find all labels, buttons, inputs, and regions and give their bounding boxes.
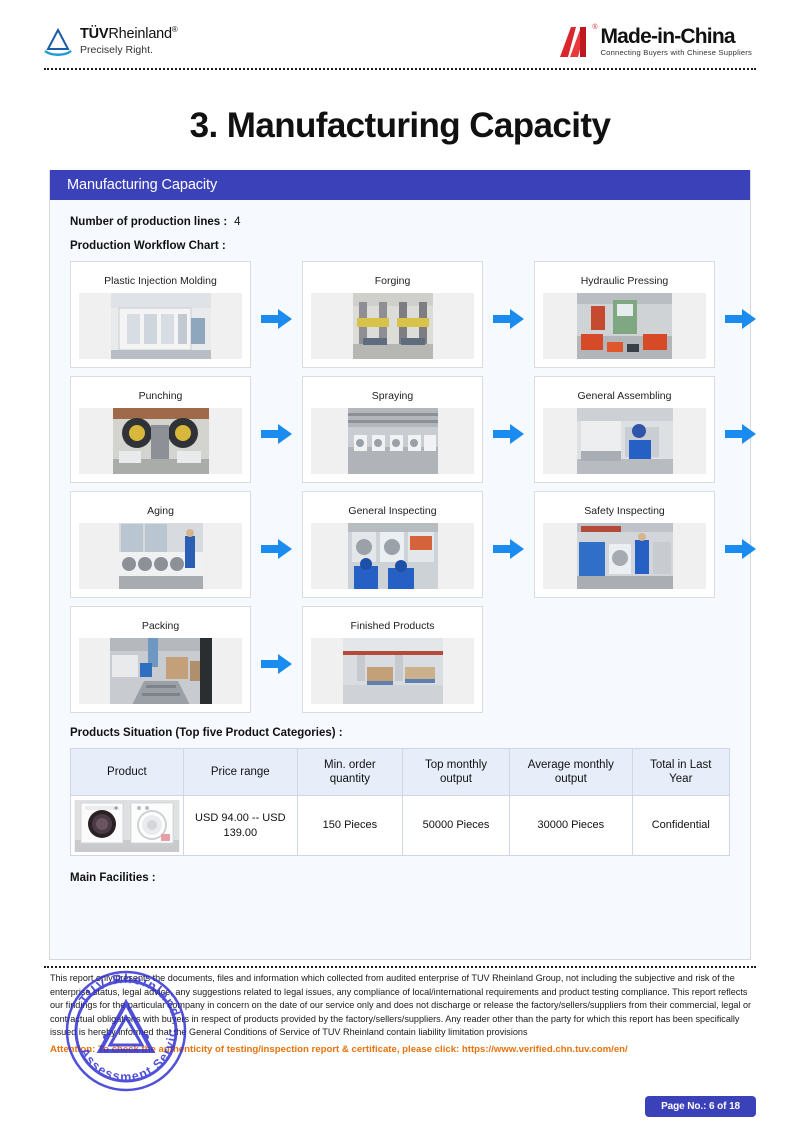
- panel-header: Manufacturing Capacity: [50, 170, 750, 200]
- workflow-arrow: [251, 307, 302, 331]
- general-inspecting-photo: [311, 523, 474, 589]
- right-arrow-icon: [493, 307, 525, 331]
- mic-logo-name: Made-in-China: [600, 26, 752, 47]
- workflow-arrow: [715, 422, 766, 446]
- workflow-arrow: [251, 537, 302, 561]
- workflow-chart-label: Production Workflow Chart :: [70, 240, 730, 252]
- table-row: USD 94.00 -- USD 139.00 150 Pieces 50000…: [71, 796, 730, 856]
- made-in-china-logo: ® Made-in-China Connecting Buyers with C…: [558, 26, 752, 58]
- workflow-arrow: [251, 652, 302, 676]
- workflow-step-label: Finished Products: [350, 615, 434, 638]
- cell-total-last-year: Confidential: [632, 796, 729, 856]
- hydraulic-pressing-photo: [543, 293, 706, 359]
- punching-photo: [79, 408, 242, 474]
- workflow-row: Plastic Injection Molding: [70, 261, 730, 368]
- workflow-step-punching: Punching: [70, 376, 251, 483]
- column-header-price-range: Price range: [183, 749, 297, 796]
- right-arrow-icon: [493, 537, 525, 561]
- workflow-step-aging: Aging: [70, 491, 251, 598]
- workflow-arrow: [715, 307, 766, 331]
- products-table: Product Price range Min. order quantity …: [70, 748, 730, 856]
- tuv-rheinland-logo: TÜVRheinland® Precisely Right.: [44, 26, 178, 57]
- workflow-step-label: General Inspecting: [348, 500, 436, 523]
- right-arrow-icon: [493, 422, 525, 446]
- page-header: TÜVRheinland® Precisely Right. ® Made-in…: [0, 0, 800, 72]
- workflow-step-plastic-injection-molding: Plastic Injection Molding: [70, 261, 251, 368]
- washing-machine-photo: [74, 800, 180, 852]
- main-facilities-label: Main Facilities :: [70, 872, 730, 884]
- workflow-step-hydraulic-pressing: Hydraulic Pressing: [534, 261, 715, 368]
- workflow-step-label: Spraying: [372, 385, 413, 408]
- workflow-step-label: General Assembling: [578, 385, 672, 408]
- workflow-step-forging: Forging: [302, 261, 483, 368]
- workflow-step-label: Aging: [147, 500, 174, 523]
- workflow-row: Aging: [70, 491, 730, 598]
- cell-product-image: [71, 796, 184, 856]
- attention-text: Attention: To check the authenticity of …: [50, 1044, 459, 1055]
- workflow-step-spraying: Spraying: [302, 376, 483, 483]
- workflow-step-packing: Packing: [70, 606, 251, 713]
- spraying-photo: [311, 408, 474, 474]
- workflow-step-label: Punching: [139, 385, 183, 408]
- production-lines-value: 4: [234, 216, 240, 228]
- cell-min-order-quantity: 150 Pieces: [297, 796, 402, 856]
- workflow-step-safety-inspecting: Safety Inspecting: [534, 491, 715, 598]
- footer-divider: [44, 966, 756, 968]
- production-lines-field: Number of production lines :4: [70, 216, 730, 228]
- workflow-arrow: [483, 422, 534, 446]
- mic-registered-mark: ®: [592, 24, 597, 31]
- column-header-top-monthly-output: Top monthly output: [402, 749, 509, 796]
- panel-body: Number of production lines :4 Production…: [50, 200, 750, 884]
- plastic-injection-molding-photo: [79, 293, 242, 359]
- packing-photo: [79, 638, 242, 704]
- header-divider: [44, 68, 756, 70]
- verification-url[interactable]: https://www.verified.chn.tuv.com/en/: [462, 1044, 628, 1055]
- workflow-row: Punching: [70, 376, 730, 483]
- right-arrow-icon: [261, 307, 293, 331]
- column-header-min-order-quantity: Min. order quantity: [297, 749, 402, 796]
- disclaimer-block: This report only presents the documents,…: [50, 972, 756, 1055]
- workflow-step-label: Packing: [142, 615, 179, 638]
- workflow-arrow: [483, 537, 534, 561]
- right-arrow-icon: [725, 422, 757, 446]
- workflow-step-label: Forging: [375, 270, 411, 293]
- panel-header-label: Manufacturing Capacity: [67, 177, 217, 193]
- right-arrow-icon: [725, 307, 757, 331]
- workflow-step-finished-products: Finished Products: [302, 606, 483, 713]
- attention-line: Attention: To check the authenticity of …: [50, 1044, 756, 1055]
- workflow-step-general-assembling: General Assembling: [534, 376, 715, 483]
- cell-top-monthly-output: 50000 Pieces: [402, 796, 509, 856]
- mic-m-logo-icon: ®: [558, 26, 594, 58]
- right-arrow-icon: [725, 537, 757, 561]
- production-lines-label: Number of production lines :: [70, 216, 227, 228]
- workflow-arrow: [715, 537, 766, 561]
- tuv-logo-name: TÜVRheinland®: [80, 26, 178, 42]
- workflow-step-label: Safety Inspecting: [584, 500, 665, 523]
- disclaimer-text: This report only presents the documents,…: [50, 972, 756, 1040]
- general-assembling-photo: [543, 408, 706, 474]
- products-situation-label: Products Situation (Top five Product Cat…: [70, 727, 730, 739]
- aging-photo: [79, 523, 242, 589]
- safety-inspecting-photo: [543, 523, 706, 589]
- forging-photo: [311, 293, 474, 359]
- workflow-step-label: Plastic Injection Molding: [104, 270, 217, 293]
- right-arrow-icon: [261, 422, 293, 446]
- page-title: 3. Manufacturing Capacity: [0, 106, 800, 146]
- table-header-row: Product Price range Min. order quantity …: [71, 749, 730, 796]
- products-table-wrapper: Product Price range Min. order quantity …: [70, 748, 730, 856]
- column-header-total-last-year: Total in Last Year: [632, 749, 729, 796]
- tuv-logo-tagline: Precisely Right.: [80, 45, 178, 56]
- cell-price-range: USD 94.00 -- USD 139.00: [183, 796, 297, 856]
- column-header-average-monthly-output: Average monthly output: [510, 749, 632, 796]
- workflow-arrow: [483, 307, 534, 331]
- right-arrow-icon: [261, 652, 293, 676]
- workflow-step-general-inspecting: General Inspecting: [302, 491, 483, 598]
- workflow-row: Packing: [70, 606, 730, 713]
- manufacturing-capacity-panel: Manufacturing Capacity Number of product…: [49, 170, 751, 960]
- cell-average-monthly-output: 30000 Pieces: [510, 796, 632, 856]
- right-arrow-icon: [261, 537, 293, 561]
- workflow-step-label: Hydraulic Pressing: [581, 270, 669, 293]
- tuv-triangle-logo-icon: [44, 27, 72, 57]
- finished-products-photo: [311, 638, 474, 704]
- production-workflow-chart: Plastic Injection Molding: [70, 261, 730, 713]
- workflow-arrow: [251, 422, 302, 446]
- column-header-product: Product: [71, 749, 184, 796]
- page-number-badge: Page No.: 6 of 18: [645, 1096, 756, 1117]
- mic-logo-tagline: Connecting Buyers with Chinese Suppliers: [600, 49, 752, 57]
